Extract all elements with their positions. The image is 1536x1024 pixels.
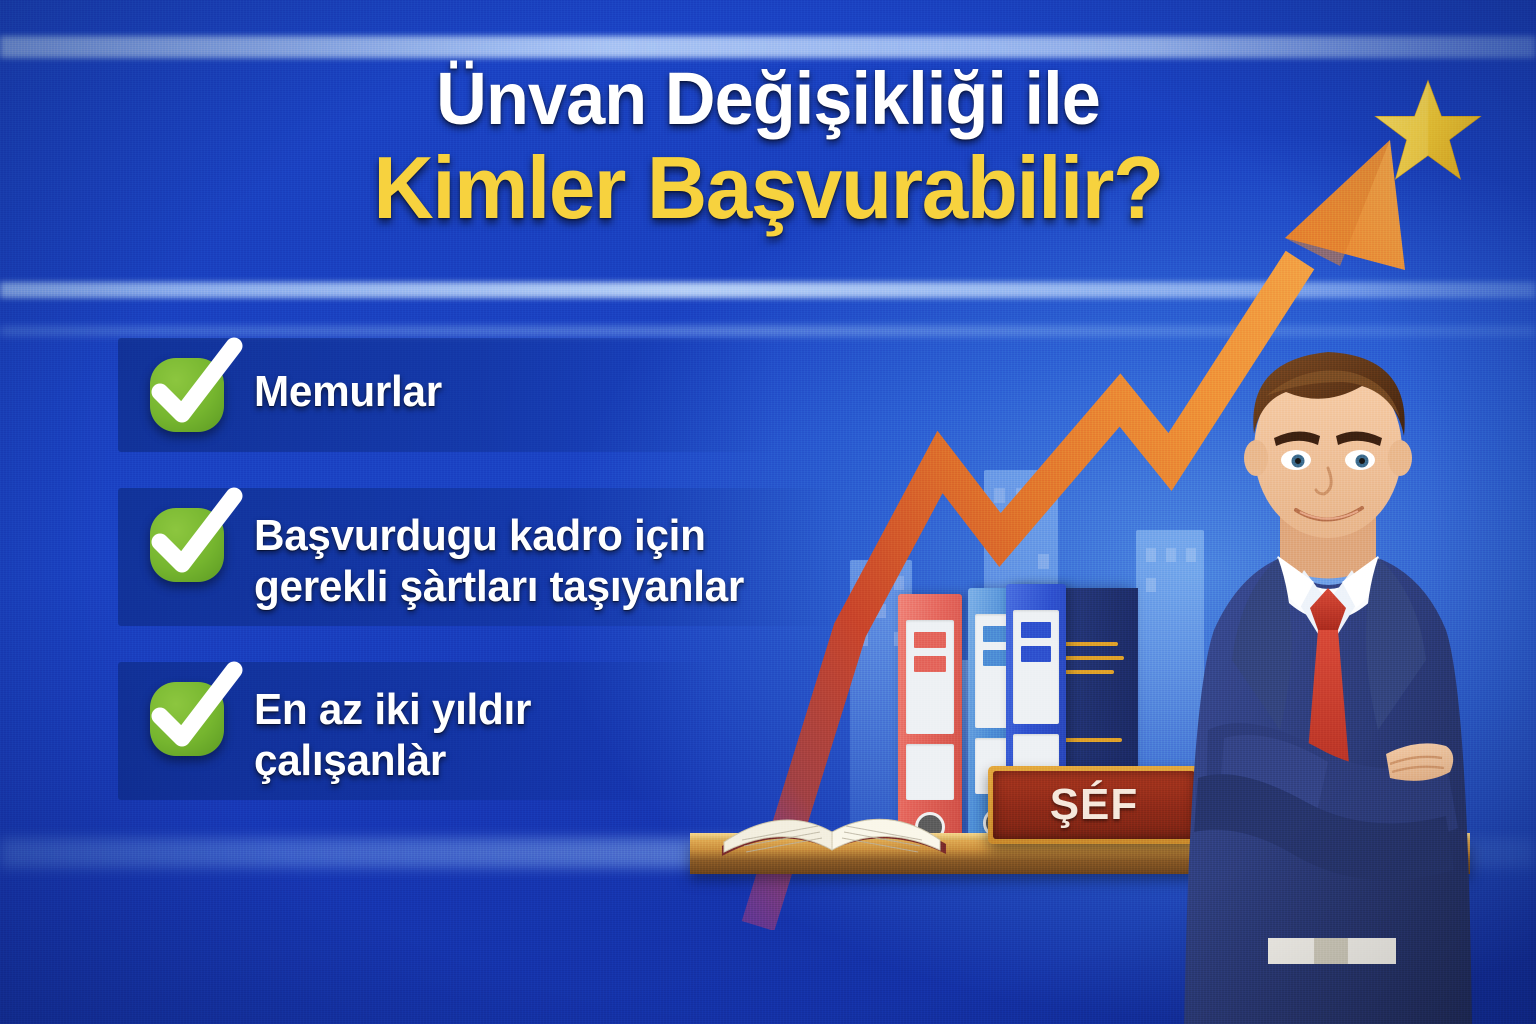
list-item-label: Başvurdugu kadro içingerekli şàrtları ta…	[254, 502, 744, 612]
list-item: En az iki yıldırçalışanlàr	[0, 662, 900, 800]
list-item: Başvurdugu kadro içingerekli şàrtları ta…	[0, 488, 900, 626]
title-line-1: Ünvan Değişikliği ile	[38, 62, 1497, 136]
list-item: Memurlar	[0, 338, 900, 452]
check-icon	[144, 502, 230, 588]
check-icon	[144, 676, 230, 762]
title-line-2: Kimler Başvurabilir?	[38, 142, 1497, 234]
list-item-label: En az iki yıldırçalışanlàr	[254, 676, 531, 786]
check-icon	[144, 352, 230, 438]
poster-title: Ünvan Değişikliği ile Kimler Başvurabili…	[0, 62, 1536, 234]
eligibility-checklist: Memurlar Başvurdugu kadro içingerekli şà…	[0, 338, 900, 836]
list-item-label: Memurlar	[254, 352, 442, 417]
sef-nameplate-label: ŞÉF	[1050, 783, 1139, 827]
poster-canvas: ŞÉF	[0, 0, 1536, 1024]
businessman-illustration	[1128, 330, 1528, 1024]
